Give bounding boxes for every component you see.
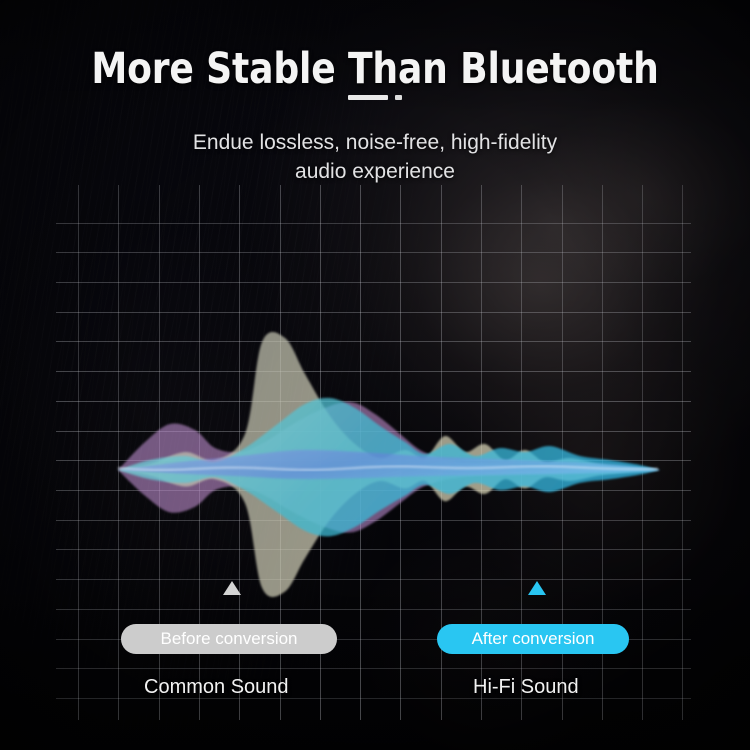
subtitle-line-2: audio experience	[0, 157, 750, 186]
legend-pill-before[interactable]: Before conversion	[121, 624, 337, 654]
legend-pill-after-label: After conversion	[472, 629, 595, 649]
caption-hifi-sound: Hi-Fi Sound	[473, 676, 579, 699]
triangle-up-icon-before	[223, 581, 241, 595]
caption-common-sound: Common Sound	[144, 676, 289, 699]
triangle-up-icon-after	[528, 581, 546, 595]
subtitle-line-1: Endue lossless, noise-free, high-fidelit…	[193, 131, 557, 154]
legend-pill-before-label: Before conversion	[160, 629, 297, 649]
legend-pill-after[interactable]: After conversion	[437, 624, 629, 654]
title-divider	[0, 95, 750, 100]
promo-banner: More Stable Than Bluetooth Endue lossles…	[0, 0, 750, 750]
page-subtitle: Endue lossless, noise-free, high-fidelit…	[0, 128, 750, 186]
divider-dash-icon	[348, 95, 388, 100]
page-title: More Stable Than Bluetooth	[60, 44, 690, 94]
divider-dot-icon	[395, 95, 402, 100]
background-vignette	[0, 0, 750, 750]
